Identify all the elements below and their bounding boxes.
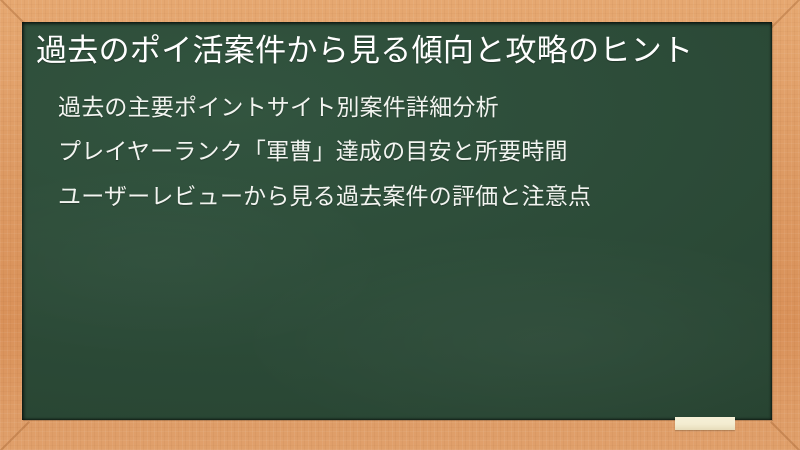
frame-miter-bottom-right <box>770 421 800 450</box>
slide-content: 過去のポイ活案件から見る傾向と攻略のヒント 過去の主要ポイントサイト別案件詳細分… <box>22 22 772 420</box>
list-item: 過去の主要ポイントサイト別案件詳細分析 <box>58 92 746 123</box>
list-item: ユーザーレビューから見る過去案件の評価と注意点 <box>58 181 746 212</box>
chalk-stick-icon <box>675 417 735 430</box>
list-item: プレイヤーランク「軍曹」達成の目安と所要時間 <box>58 136 746 167</box>
slide-title: 過去のポイ活案件から見る傾向と攻略のヒント <box>34 30 746 72</box>
frame-miter-bottom-left <box>0 421 30 450</box>
bullet-list: 過去の主要ポイントサイト別案件詳細分析 プレイヤーランク「軍曹」達成の目安と所要… <box>34 92 746 212</box>
chalkboard-surface: 過去のポイ活案件から見る傾向と攻略のヒント 過去の主要ポイントサイト別案件詳細分… <box>22 22 772 420</box>
frame-miter-top-right <box>770 0 800 29</box>
chalkboard-slide: 過去のポイ活案件から見る傾向と攻略のヒント 過去の主要ポイントサイト別案件詳細分… <box>0 0 800 450</box>
